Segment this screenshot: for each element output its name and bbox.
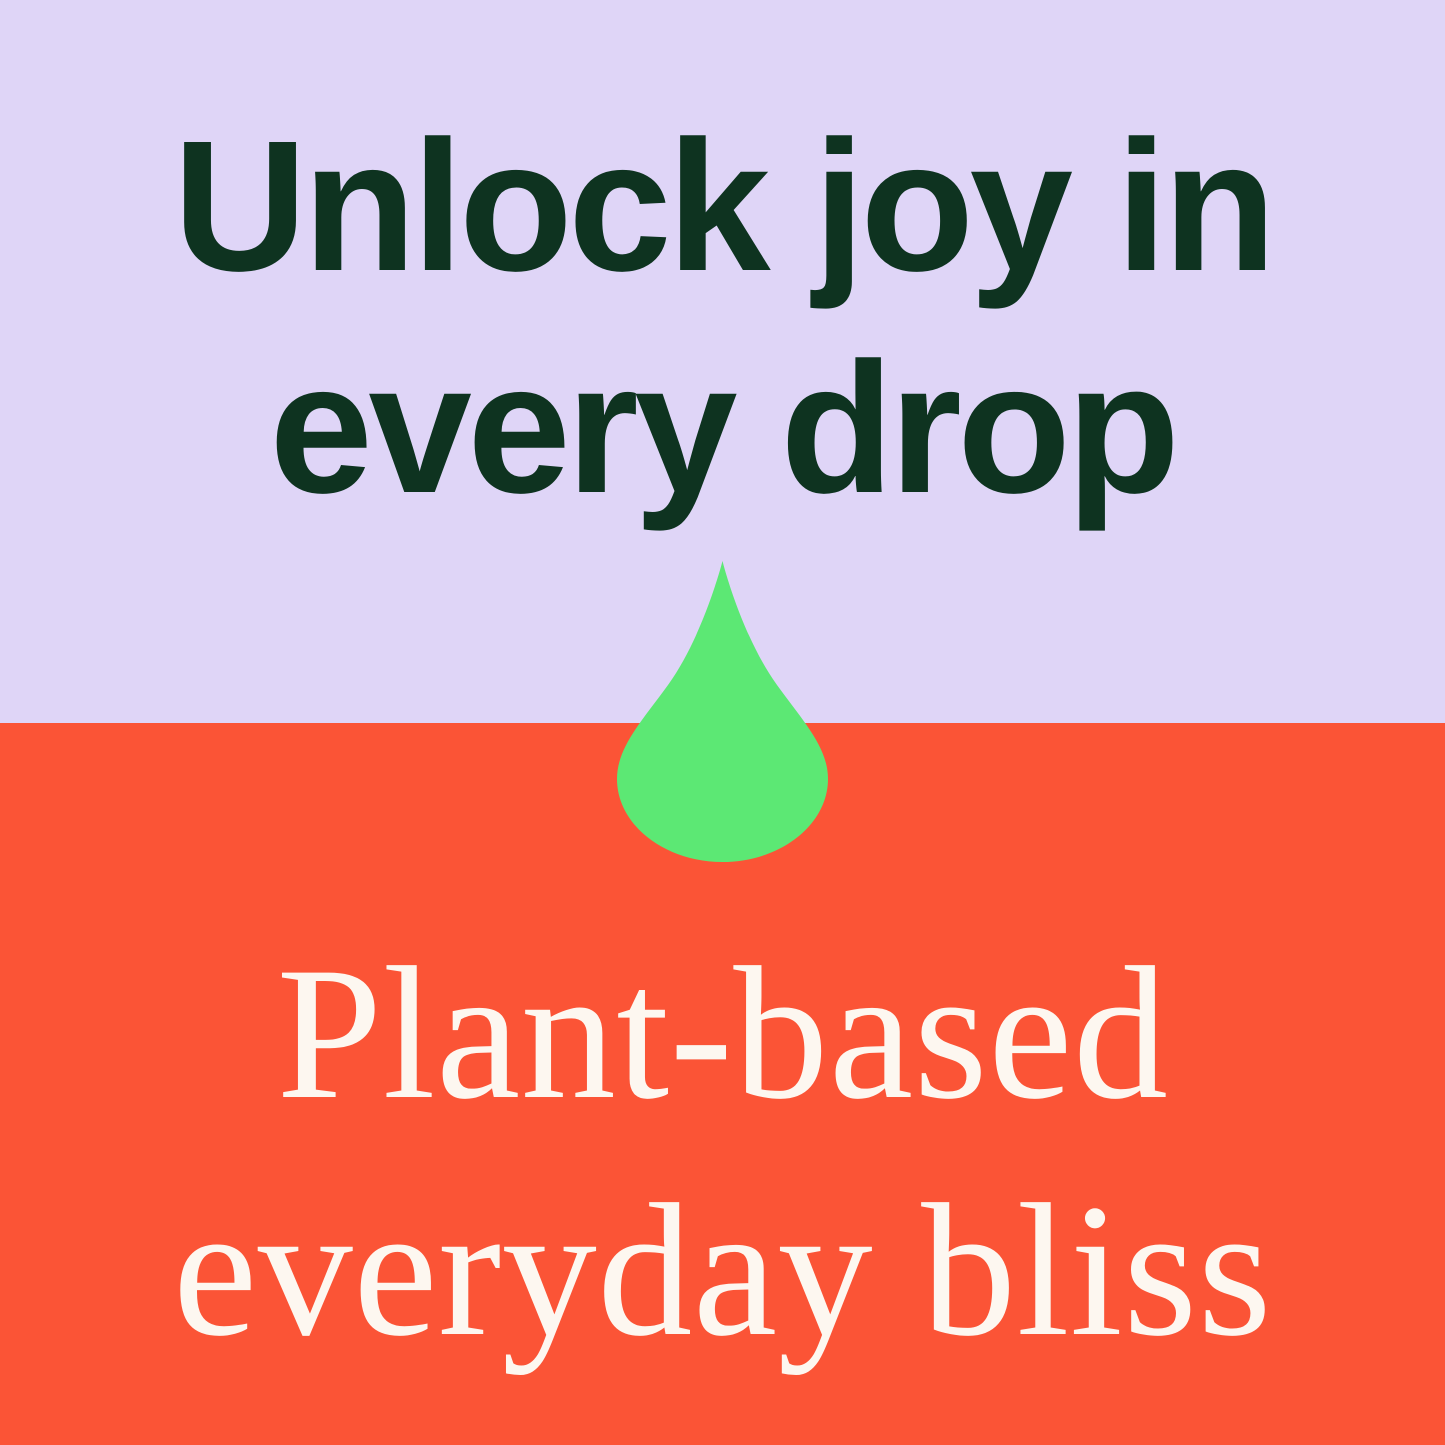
headline: Unlock joy in every drop: [0, 96, 1445, 540]
subhead-line-1: Plant-based: [0, 916, 1445, 1153]
headline-line-2: every drop: [0, 318, 1445, 540]
poster-canvas: Unlock joy in every drop Plant-based eve…: [0, 0, 1445, 1445]
headline-line-1: Unlock joy in: [0, 96, 1445, 318]
water-droplet-icon: [617, 561, 828, 862]
subhead-line-2: everyday bliss: [0, 1153, 1445, 1390]
subhead: Plant-based everyday bliss: [0, 916, 1445, 1390]
